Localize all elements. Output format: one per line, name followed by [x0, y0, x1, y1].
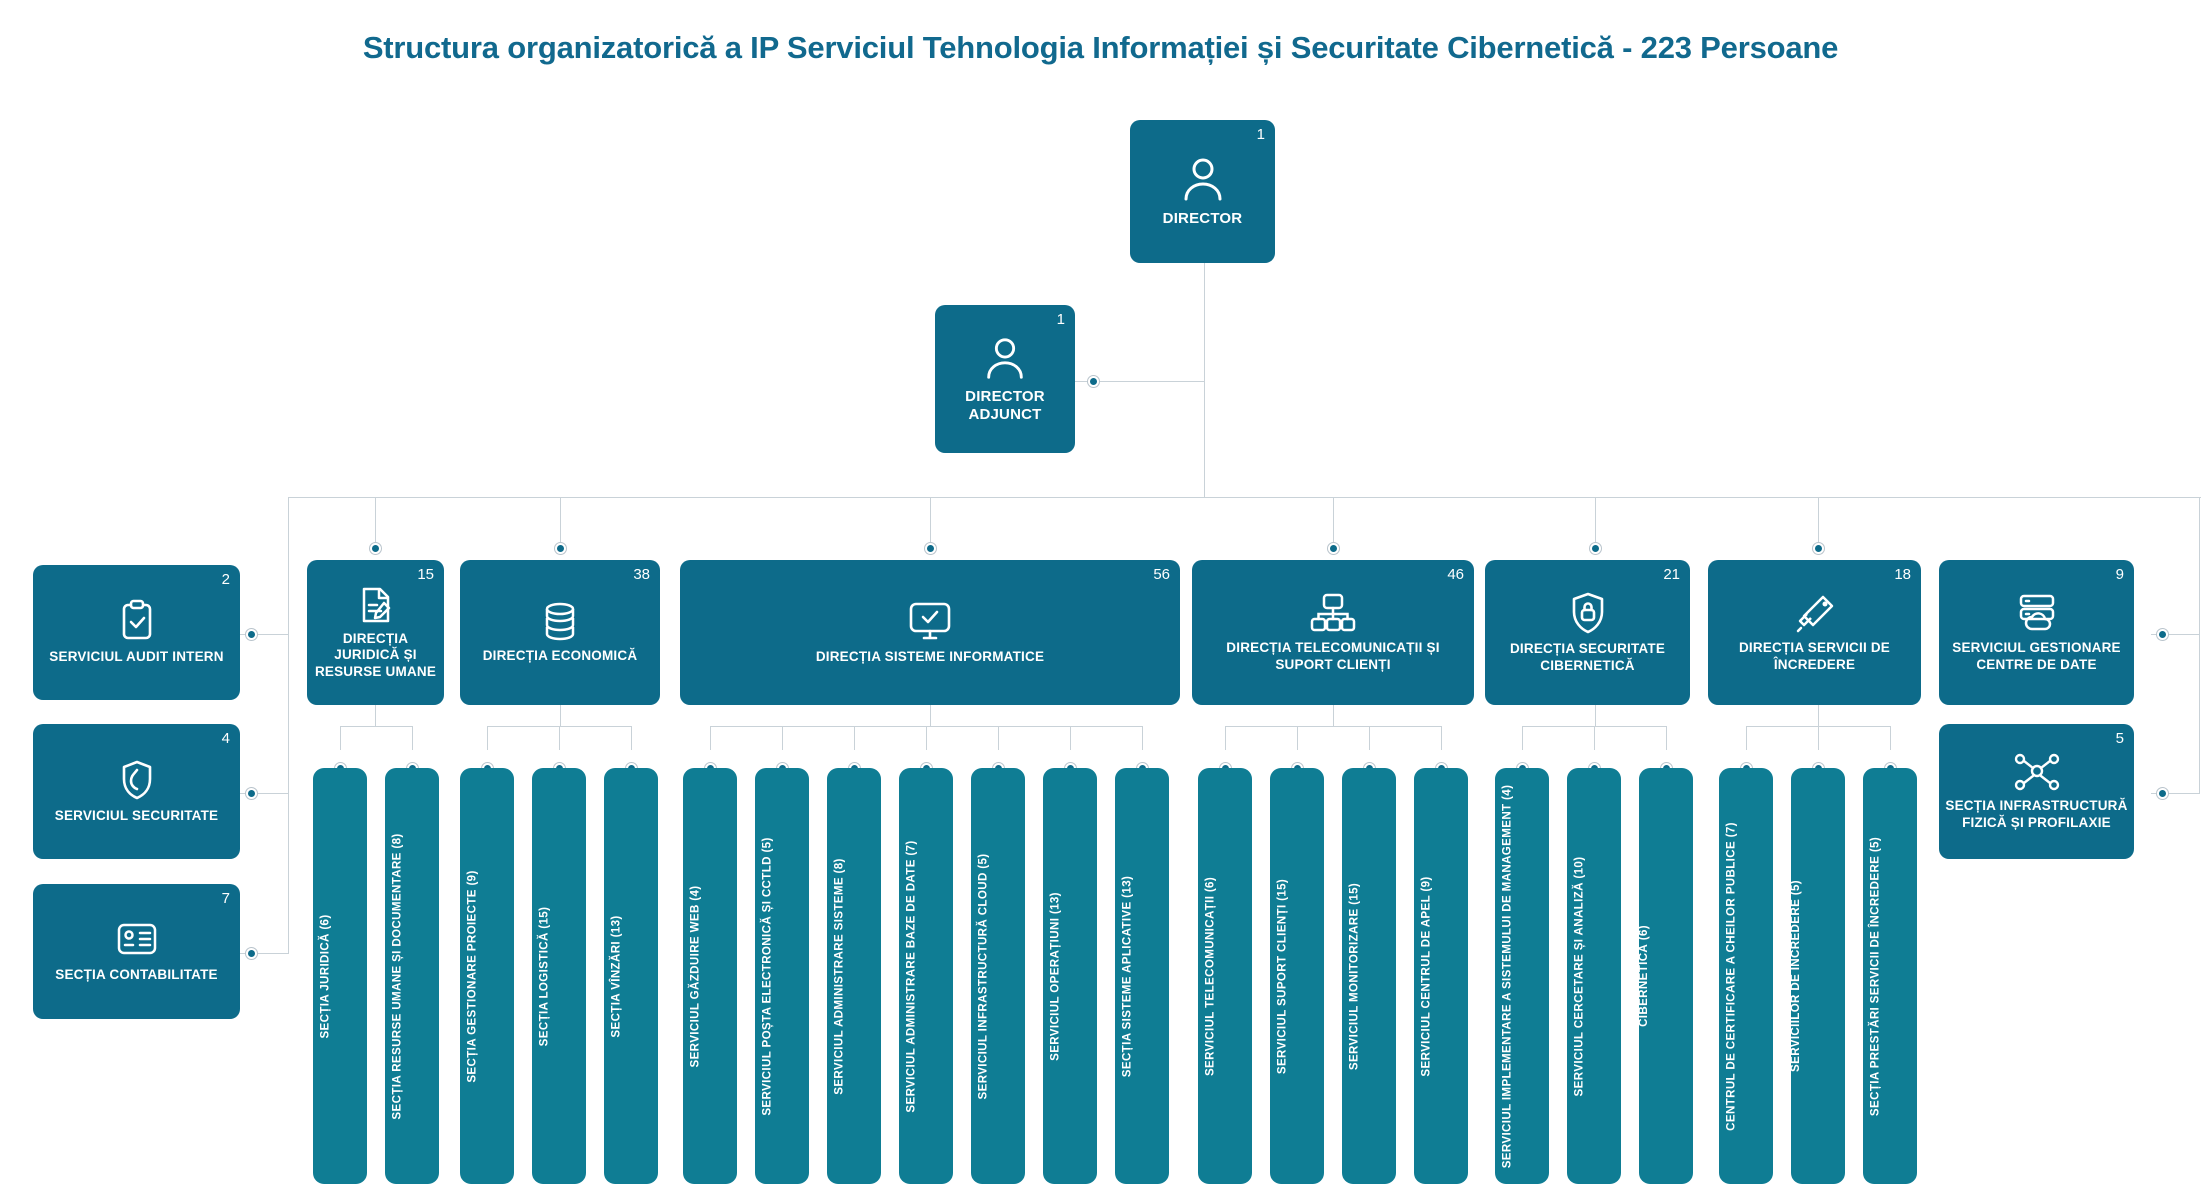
leaf-label: SECȚIA RESURSE UMANE ȘI DOCUMENTARE: [391, 852, 404, 1119]
connector-line: [1070, 726, 1071, 750]
connector-line: [1142, 726, 1143, 750]
node-label: DIRECȚIA ECONOMICĂ: [477, 648, 644, 664]
leaf-label: SERVICIUL CERCETARE ȘI ANALIZĂ: [1573, 882, 1586, 1096]
node-label: DIRECȚIA SERVICII DE ÎNCREDERE: [1708, 640, 1921, 673]
leaf-serviciul-suport-clienti[interactable]: SERVICIUL SUPORT CLIENȚI (15): [1270, 768, 1324, 1184]
node-directia-servicii-de-incredere[interactable]: 18 DIRECȚIA SERVICII DE ÎNCREDERE: [1708, 560, 1921, 705]
node-label: DIRECȚIA TELECOMUNICAȚII ȘI SUPORT CLIEN…: [1192, 640, 1474, 673]
leaf-label: SERVICIUL ADMINISTRARE SISTEME: [833, 877, 846, 1095]
leaf-count: (15): [1276, 878, 1289, 900]
connector-line: [1225, 726, 1226, 750]
leaf-label: SERVICIUL RĂSPUNS LA INCIDENTE DE SECURI…: [1639, 818, 1650, 1134]
connector-dot: [246, 788, 257, 799]
node-count: 56: [1153, 566, 1170, 583]
node-count: 18: [1894, 566, 1911, 583]
connector-line: [930, 705, 931, 726]
leaf-label: SECȚIA VÎNZĂRI: [610, 941, 623, 1038]
node-count: 1: [1257, 126, 1265, 143]
org-chart-canvas: Structura organizatorică a IP Serviciul …: [0, 0, 2201, 1198]
connector-line: [1594, 726, 1595, 750]
page-title: Structura organizatorică a IP Serviciul …: [0, 30, 2201, 66]
leaf-count: (9): [1420, 876, 1433, 891]
node-directia-sisteme-informatice[interactable]: 56 DIRECȚIA SISTEME INFORMATICE: [680, 560, 1180, 705]
leaf-count: (5): [1791, 880, 1802, 895]
leaf-label: SERVICIUL MONITORIZARE: [1348, 908, 1361, 1070]
leaf-count: (5): [977, 853, 990, 868]
connector-line: [1818, 726, 1819, 750]
leaf-label: SERVICIUL POȘTA ELECTRONICĂ ȘI CCTLD: [761, 856, 774, 1116]
node-label: SERVICIUL SECURITATE: [49, 808, 225, 824]
node-label: SERVICIUL GESTIONARE CENTRE DE DATE: [1939, 640, 2134, 673]
leaf-sectia-prestari-servicii-de-incredere[interactable]: SECȚIA PRESTĂRI SERVICII DE ÎNCREDERE (5…: [1863, 768, 1917, 1184]
leaf-serviciul-gazduire-web[interactable]: SERVICIUL GĂZDUIRE WEB (4): [683, 768, 737, 1184]
leaf-label: SERVICIUL OPERAȚIUNI: [1049, 917, 1062, 1060]
connector-dot: [2157, 788, 2168, 799]
connector-line: [1441, 726, 1442, 750]
connector-line: [1666, 726, 1667, 750]
connector-line: [559, 726, 560, 750]
node-label: DIRECȚIA JURIDICĂ ȘI RESURSE UMANE: [307, 631, 444, 680]
node-label: DIRECTOR ADJUNCT: [935, 388, 1075, 425]
leaf-count: (10): [1573, 856, 1586, 878]
leaf-serviciul-raspuns-la-incidente-de-securitate-cibernetica[interactable]: SERVICIUL RĂSPUNS LA INCIDENTE DE SECURI…: [1639, 768, 1693, 1184]
leaf-serviciul-administrare-sisteme[interactable]: SERVICIUL ADMINISTRARE SISTEME (8): [827, 768, 881, 1184]
node-label: DIRECȚIA SISTEME INFORMATICE: [810, 649, 1050, 665]
connector-dot: [246, 948, 257, 959]
node-sectia-infrastructura-fizica-si-profilaxie[interactable]: 5 SECȚIA INFRASTRUCTURĂ FIZICĂ ȘI PROFIL…: [1939, 724, 2134, 859]
leaf-sectia-vinzari[interactable]: SECȚIA VÎNZĂRI (13): [604, 768, 658, 1184]
leaf-count: (6): [1204, 876, 1217, 891]
connector-dot: [2157, 629, 2168, 640]
leaf-sectia-logistica[interactable]: SECȚIA LOGISTICĂ (15): [532, 768, 586, 1184]
network-icon: [1310, 592, 1356, 634]
connector-line: [375, 705, 376, 726]
node-count: 46: [1447, 566, 1464, 583]
leaf-centrul-de-certificare-a-cheilor-publice[interactable]: CENTRUL DE CERTIFICARE A CHEILOR PUBLICE…: [1719, 768, 1773, 1184]
connector-line: [1818, 705, 1819, 726]
leaf-label: SECȚIA GESTIONARE PROIECTE: [466, 889, 479, 1083]
leaf-label: CENTRUL DE CERTIFICARE A CHEILOR PUBLICE: [1725, 840, 1738, 1130]
node-sectia-contabilitate[interactable]: 7 SECȚIA CONTABILITATE: [33, 884, 240, 1019]
connector-line: [340, 726, 341, 750]
node-director-adjunct[interactable]: 1 DIRECTOR ADJUNCT: [935, 305, 1075, 453]
leaf-label: SERVICIUL CENTRUL DE APEL: [1420, 895, 1433, 1076]
leaf-count: (13): [610, 915, 623, 937]
node-count: 7: [222, 890, 230, 907]
leaf-count: (5): [761, 837, 774, 852]
node-directia-securitate-cibernetica[interactable]: 21 DIRECȚIA SECURITATE CIBERNETICĂ: [1485, 560, 1690, 705]
leaf-serviciul-telecomunicatii[interactable]: SERVICIUL TELECOMUNICAȚII (6): [1198, 768, 1252, 1184]
leaf-sectia-sisteme-aplicative[interactable]: SECȚIA SISTEME APLICATIVE (13): [1115, 768, 1169, 1184]
leaf-sectia-gestionare-proiecte[interactable]: SECȚIA GESTIONARE PROIECTE (9): [460, 768, 514, 1184]
leaf-count: (8): [391, 833, 404, 848]
leaf-count: (9): [466, 870, 479, 885]
connector-line: [1746, 726, 1747, 750]
leaf-serviciul-centrul-de-apel[interactable]: SERVICIUL CENTRUL DE APEL (9): [1414, 768, 1468, 1184]
connector-line: [1818, 497, 1819, 547]
leaf-serviciul-implementare-a-sistemului-de-management[interactable]: SERVICIUL IMPLEMENTARE A SISTEMULUI DE M…: [1495, 768, 1549, 1184]
leaf-count: (4): [689, 885, 702, 900]
leaf-sectia-resurse-umane-si-documentare[interactable]: SECȚIA RESURSE UMANE ȘI DOCUMENTARE (8): [385, 768, 439, 1184]
connector-dot: [370, 543, 381, 554]
clipboard-check-icon: [117, 599, 157, 643]
connector-dot: [555, 543, 566, 554]
leaf-label: SERVICIUL GĂZDUIRE WEB: [689, 904, 702, 1067]
connector-line: [487, 726, 488, 750]
leaf-serviciul-posta-electronica-si-cctld[interactable]: SERVICIUL POȘTA ELECTRONICĂ ȘI CCTLD (5): [755, 768, 809, 1184]
connector-line: [782, 726, 783, 750]
connector-line: [340, 726, 412, 727]
connector-line: [926, 726, 927, 750]
connector-line: [1595, 705, 1596, 726]
connector-line: [1333, 497, 1334, 547]
leaf-count: (15): [1348, 882, 1361, 904]
node-label: DIRECȚIA SECURITATE CIBERNETICĂ: [1485, 641, 1690, 674]
leaf-count: (6): [1639, 925, 1650, 940]
node-directia-economica[interactable]: 38 DIRECȚIA ECONOMICĂ: [460, 560, 660, 705]
node-label: SERVICIUL AUDIT INTERN: [43, 649, 229, 665]
leaf-count: (7): [1725, 822, 1738, 837]
connector-dot: [246, 629, 257, 640]
leaf-count: (5): [1869, 836, 1882, 851]
connector-line: [998, 726, 999, 750]
leaf-serviciul-cercetare-si-analiza[interactable]: SERVICIUL CERCETARE ȘI ANALIZĂ (10): [1567, 768, 1621, 1184]
connector-line: [631, 726, 632, 750]
node-count: 1: [1057, 311, 1065, 328]
connector-line: [930, 497, 931, 547]
leaf-count: (4): [1501, 784, 1514, 799]
lock-shield-icon: [1568, 591, 1608, 635]
leaf-serviciul-administrare-baze-de-date[interactable]: SERVICIUL ADMINISTRARE BAZE DE DATE (7): [899, 768, 953, 1184]
node-count: 5: [2116, 730, 2124, 747]
person-icon: [979, 334, 1031, 382]
leaf-label: SECȚIA JURIDICĂ: [319, 933, 332, 1038]
connector-line: [710, 726, 711, 750]
node-serviciul-gestionare-centre-de-date[interactable]: 9 SERVICIUL GESTIONARE CENTRE DE DATE: [1939, 560, 2134, 705]
connector-line: [2199, 497, 2200, 794]
leaf-serviciul-infrastructura-cloud[interactable]: SERVICIUL INFRASTRUCTURĂ CLOUD (5): [971, 768, 1025, 1184]
node-count: 15: [417, 566, 434, 583]
connector-dot: [1088, 376, 1099, 387]
connector-line: [1297, 726, 1298, 750]
node-label: SECȚIA INFRASTRUCTURĂ FIZICĂ ȘI PROFILAX…: [1939, 798, 2134, 831]
node-count: 2: [222, 571, 230, 588]
server-cloud-icon: [2015, 592, 2059, 634]
leaf-label: SERVICIUL ADMINISTRARE BAZE DE DATE: [905, 859, 918, 1112]
leaf-label: SECȚIA PRESTĂRI SERVICII DE ÎNCREDERE: [1869, 855, 1882, 1115]
connector-dot: [1813, 543, 1824, 554]
leaf-serviciul-operatiuni[interactable]: SERVICIUL OPERAȚIUNI (13): [1043, 768, 1097, 1184]
document-pen-icon: [356, 585, 396, 625]
leaf-count: (15): [538, 906, 551, 928]
leaf-label: SERVICIUL IMPLEMENTARE A SISTEMULUI DE M…: [1501, 803, 1514, 1168]
leaf-label: SERVICIUL INFRASTRUCTURĂ CLOUD: [977, 872, 990, 1099]
connector-line: [375, 497, 376, 547]
connector-dot: [925, 543, 936, 554]
leaf-label: SERVICIUL DEZVOLTĂRI PRODUSE PENTRU PRES…: [1791, 807, 1802, 1146]
leaf-serviciul-monitorizare[interactable]: SERVICIUL MONITORIZARE (15): [1342, 768, 1396, 1184]
keys-icon: [1793, 592, 1837, 634]
leaf-count: (13): [1121, 875, 1134, 897]
person-icon: [1176, 154, 1230, 204]
connector-line: [412, 726, 413, 750]
leaf-count: (13): [1049, 892, 1062, 914]
node-label: SECȚIA CONTABILITATE: [49, 967, 224, 983]
coins-icon: [538, 600, 582, 642]
node-directia-juridica-si-resurse-umane[interactable]: 15 DIRECȚIA JURIDICĂ ȘI RESURSE UMANE: [307, 560, 444, 705]
node-director[interactable]: 1 DIRECTOR: [1130, 120, 1275, 263]
topology-icon: [2014, 752, 2060, 792]
node-count: 38: [633, 566, 650, 583]
leaf-label: SERVICIUL SUPORT CLIENȚI: [1276, 904, 1289, 1074]
node-count: 21: [1663, 566, 1680, 583]
leaf-sectia-juridica[interactable]: SECȚIA JURIDICĂ (6): [313, 768, 367, 1184]
connector-line: [1522, 726, 1523, 750]
main-bus-line: [288, 497, 2201, 498]
connector-line: [1369, 726, 1370, 750]
connector-line: [560, 497, 561, 547]
node-serviciul-audit-intern[interactable]: 2 SERVICIUL AUDIT INTERN: [33, 565, 240, 700]
node-count: 9: [2116, 566, 2124, 583]
node-directia-telecomunicatii-si-suport-clienti[interactable]: 46 DIRECȚIA TELECOMUNICAȚII ȘI SUPORT CL…: [1192, 560, 1474, 705]
leaf-count: (7): [905, 840, 918, 855]
leaf-label: SECȚIA SISTEME APLICATIVE: [1121, 901, 1134, 1077]
node-label: DIRECTOR: [1157, 210, 1249, 228]
leaf-count: (8): [833, 858, 846, 873]
connector-line: [1595, 497, 1596, 547]
node-serviciul-securitate[interactable]: 4 SERVICIUL SECURITATE: [33, 724, 240, 859]
shield-icon: [117, 758, 157, 802]
connector-line: [288, 497, 289, 954]
connector-line: [1225, 726, 1441, 727]
connector-line: [854, 726, 855, 750]
connector-dot: [1328, 543, 1339, 554]
connector-line: [560, 705, 561, 726]
connector-line: [1333, 705, 1334, 726]
leaf-serviciul-dezvoltari-produse-pentru-prestarea-serviciilor-de-incredere[interactable]: SERVICIUL DEZVOLTĂRI PRODUSE PENTRU PRES…: [1791, 768, 1845, 1184]
leaf-label: SECȚIA LOGISTICĂ: [538, 932, 551, 1046]
calculator-icon: [115, 919, 159, 961]
connector-line: [1890, 726, 1891, 750]
node-count: 4: [222, 730, 230, 747]
leaf-label: SERVICIUL TELECOMUNICAȚII: [1204, 895, 1217, 1075]
leaf-count: (6): [319, 914, 332, 929]
connector-dot: [1590, 543, 1601, 554]
monitor-check-icon: [906, 599, 954, 643]
